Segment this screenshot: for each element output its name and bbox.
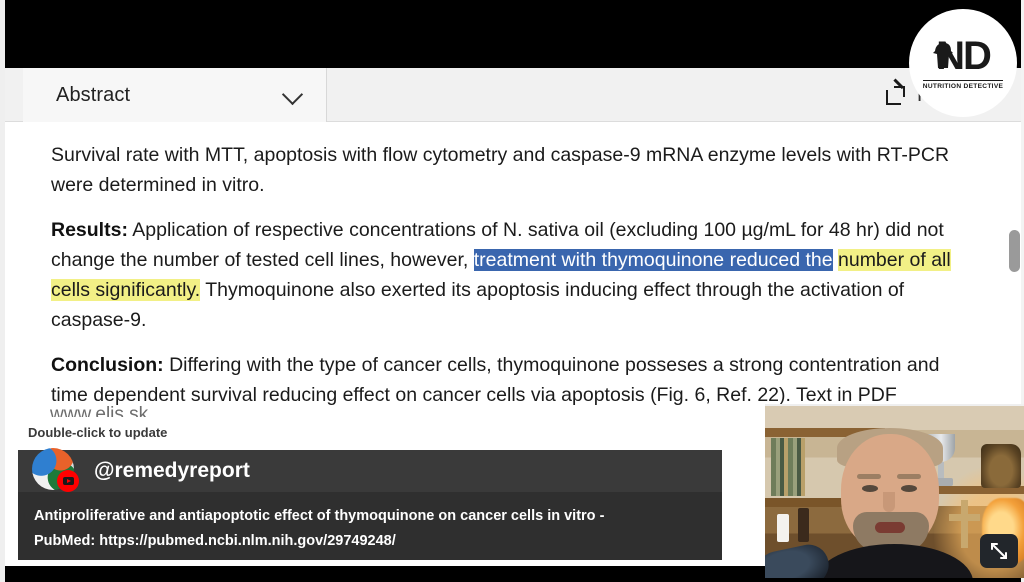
conclusion-label: Conclusion: <box>51 354 164 376</box>
channel-handle: @remedyreport <box>94 459 250 483</box>
animal-statue <box>981 444 1021 488</box>
results-label: Results: <box>51 219 128 241</box>
logo-subtitle: NUTRITION DETECTIVE <box>923 80 1003 90</box>
overlay-description: Antiproliferative and antiapoptotic effe… <box>18 492 722 554</box>
paragraph-methods: Survival rate with MTT, apoptosis with f… <box>51 140 965 200</box>
bookshelf-books <box>771 438 805 496</box>
description-line-2: PubMed: https://pubmed.ncbi.nlm.nih.gov/… <box>34 529 706 554</box>
youtube-badge-icon <box>57 470 79 492</box>
article-toolbar: Abstract Full text l <box>5 68 1021 122</box>
detective-hat-icon <box>933 40 955 68</box>
presenter <box>817 428 967 578</box>
chevron-down-icon[interactable] <box>282 84 303 105</box>
selected-text[interactable]: treatment with thymoquinone reduced the <box>474 249 833 271</box>
logo-monogram: ND <box>936 36 990 76</box>
paragraph-conclusion: Conclusion: Differing with the type of c… <box>51 350 965 410</box>
dropper-bottle <box>798 508 809 542</box>
double-click-hint: Double-click to update <box>28 425 167 440</box>
supplement-bottle <box>777 514 789 542</box>
channel-overlay: @remedyreport Antiproliferative and anti… <box>16 448 724 562</box>
expand-arrows-icon[interactable] <box>980 534 1018 568</box>
description-line-1: Antiproliferative and antiapoptotic effe… <box>34 504 706 529</box>
overlay-header: @remedyreport <box>18 450 722 492</box>
methods-text: Survival rate with MTT, apoptosis with f… <box>51 144 949 196</box>
clipped-text-line: www.elis.sk. <box>50 404 153 417</box>
letterbox-top <box>0 0 1024 68</box>
screen-root: Abstract Full text l Survival rate with … <box>0 0 1024 582</box>
conclusion-text: Differing with the type of cancer cells,… <box>51 354 939 406</box>
tab-abstract[interactable]: Abstract <box>23 68 327 122</box>
tab-abstract-label: Abstract <box>56 84 130 107</box>
page-edge-left <box>0 0 5 582</box>
scrollbar-thumb[interactable] <box>1009 230 1020 272</box>
avatar <box>32 448 74 490</box>
nutrition-detective-logo: ND NUTRITION DETECTIVE <box>909 9 1017 117</box>
paragraph-results: Results: Application of respective conce… <box>51 215 965 335</box>
external-link-icon <box>886 86 905 105</box>
webcam-video[interactable] <box>765 404 1024 578</box>
